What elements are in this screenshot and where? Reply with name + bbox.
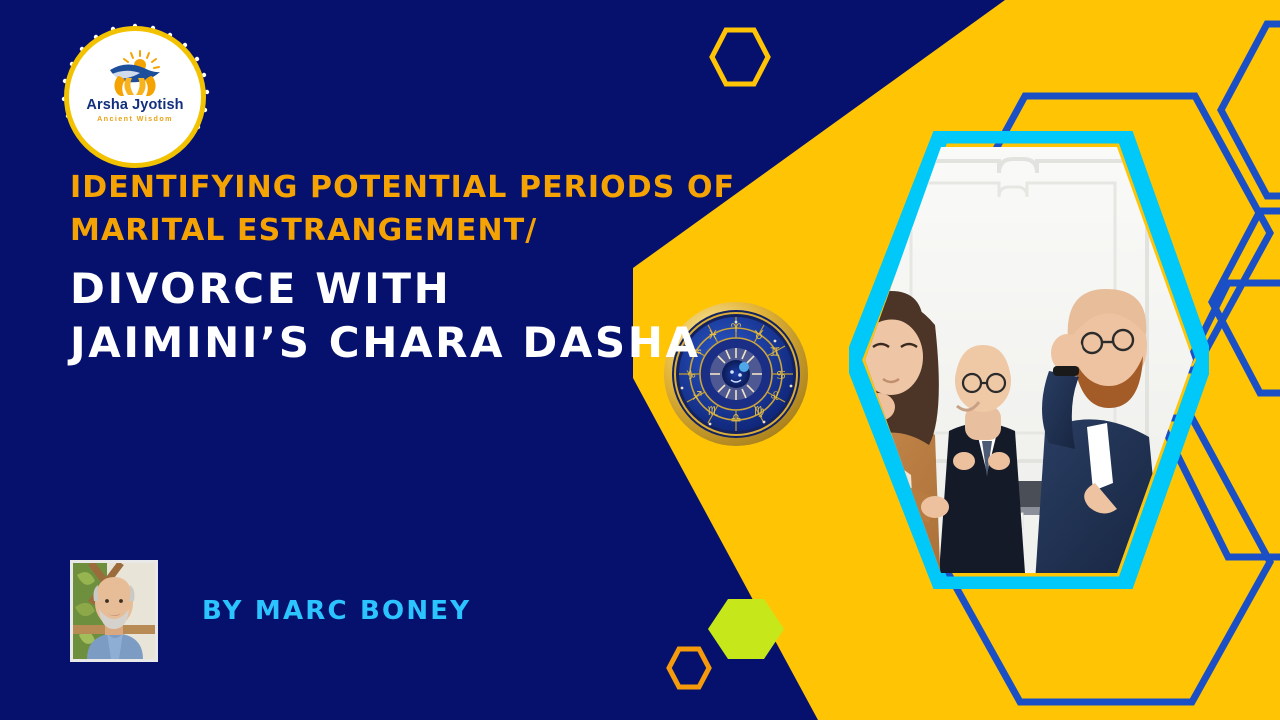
logo-brand-name: Arsha Jyotish	[86, 97, 183, 113]
page-title: DIVORCE WITH JAIMINI’S CHARA DASHA	[70, 262, 710, 370]
subtitle: IDENTIFYING POTENTIAL PERIODS OF MARITAL…	[70, 167, 800, 253]
svg-text:♉: ♉	[754, 328, 765, 342]
hero-photo-hexagon	[849, 131, 1209, 589]
svg-text:♑: ♑	[686, 368, 697, 382]
svg-text:♋: ♋	[776, 368, 787, 382]
svg-text:♍: ♍	[754, 404, 765, 418]
svg-text:♊: ♊	[770, 345, 781, 359]
logo-gold-ring: Arsha Jyotish Ancient Wisdom	[64, 26, 206, 168]
hexagon-outline-orange	[665, 645, 713, 691]
logo-content: Arsha Jyotish Ancient Wisdom	[75, 37, 195, 157]
hexagon-outline-blue-right-top	[1215, 18, 1280, 203]
avatar	[70, 560, 158, 662]
sun-hands-logo-icon	[104, 50, 166, 96]
svg-text:♌: ♌	[770, 389, 781, 403]
svg-text:♎: ♎	[731, 411, 742, 425]
brand-logo[interactable]: Arsha Jyotish Ancient Wisdom	[64, 26, 206, 168]
poster-canvas: ♈ ♉ ♊ ♋ ♌ ♍ ♎ ♏ ♐ ♑ ♒ ♓	[0, 0, 1280, 720]
author-byline: BY MARC BONEY	[202, 596, 471, 626]
logo-tagline: Ancient Wisdom	[97, 114, 173, 123]
svg-text:♏: ♏	[708, 404, 719, 418]
hexagon-outline-yellow	[708, 26, 772, 88]
svg-text:♐: ♐	[692, 389, 703, 403]
hexagon-solid-lime	[707, 598, 785, 660]
author-block: BY MARC BONEY	[70, 560, 471, 662]
